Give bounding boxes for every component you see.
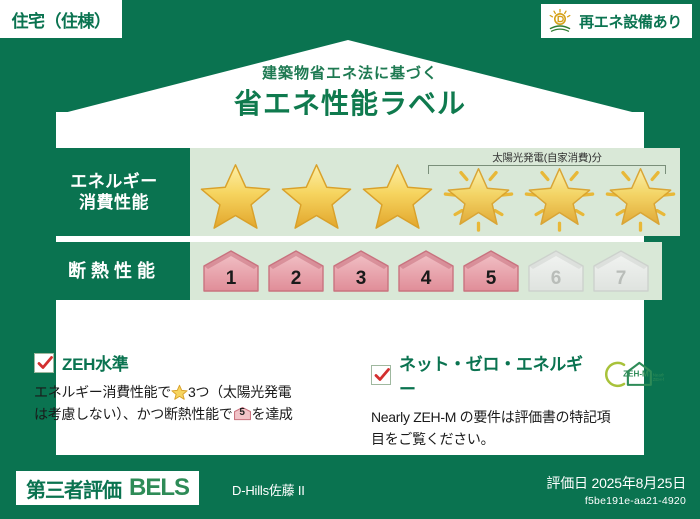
- zeh-criterion-header: ZEH水準: [34, 350, 349, 375]
- nze-criterion: ネット・ゼロ・エネルギー ZEH-M Nearly ZEH-M Nearly Z…: [349, 350, 664, 450]
- star-filled: [358, 159, 437, 233]
- nze-body-text-1: Nearly ZEH-M の要件は評価書の特記項: [371, 409, 610, 425]
- zeh-body-text-4: を達成: [252, 406, 293, 422]
- energy-performance-row: エネルギー 消費性能 太陽光発電(自家消費)分: [38, 148, 662, 236]
- dwelling-type-label: 住宅（住棟）: [12, 7, 111, 32]
- document-id: f5be191e-aa21-4920: [546, 495, 686, 507]
- zeh-body-text-2: 3つ（太陽光発電: [188, 384, 291, 400]
- zeh-m-logo: ZEH-M Nearly ZEH-M: [603, 360, 664, 390]
- energy-label-line1: エネルギー: [70, 171, 158, 192]
- label-subtitle: 建築物省エネ法に基づく: [0, 62, 700, 83]
- zeh-criterion-title: ZEH水準: [62, 350, 129, 375]
- renewable-equipment-badge: 再エネ設備あり: [541, 4, 692, 38]
- evaluation-info: 評価日 2025年8月25日 f5be191e-aa21-4920: [546, 473, 686, 507]
- nze-body-text-2: 目をご覧ください。: [371, 431, 494, 447]
- renewable-badge-label: 再エネ設備あり: [579, 11, 682, 32]
- zeh-body-text-1: エネルギー消費性能で: [34, 384, 171, 400]
- energy-performance-body: 太陽光発電(自家消費)分: [190, 148, 680, 236]
- zeh-body-text-3: は考慮しない）、かつ断熱性能で: [34, 406, 233, 422]
- insulation-level-number: 4: [395, 268, 457, 290]
- zeh-m-logo-sub2: ZEH-M: [653, 377, 664, 382]
- zeh-criterion-body: エネルギー消費性能で3つ（太陽光発電 は考慮しない）、かつ断熱性能で5を達成: [34, 382, 349, 425]
- insulation-level-number: 1: [200, 268, 262, 290]
- solar-annotation-label: 太陽光発電(自家消費)分: [422, 150, 672, 165]
- star-filled: [196, 159, 275, 233]
- sun-icon: [547, 8, 573, 34]
- bels-label: BELS: [129, 474, 189, 502]
- zeh-m-logo-text: ZEH-M: [623, 369, 649, 378]
- insulation-level-on: 4: [395, 248, 457, 294]
- check-icon: [371, 365, 391, 385]
- check-icon: [34, 353, 54, 373]
- label-title: 省エネ性能ラベル: [0, 82, 700, 122]
- building-name: D-Hills佐藤 II: [232, 480, 305, 499]
- star-filled: [277, 159, 356, 233]
- insulation-level-number: 3: [330, 268, 392, 290]
- insulation-level-off: 7: [590, 248, 652, 294]
- bels-footer-badge: 第三者評価 BELS: [16, 471, 199, 505]
- insulation-level-number: 2: [265, 268, 327, 290]
- third-party-label: 第三者評価: [26, 474, 121, 503]
- insulation-performance-body: 1 2 3 4: [190, 242, 662, 300]
- insulation-performance-row: 断熱性能 1 2: [38, 242, 662, 300]
- energy-label-line2: 消費性能: [79, 192, 149, 213]
- nze-criterion-header: ネット・ゼロ・エネルギー ZEH-M Nearly ZEH-M: [371, 350, 664, 400]
- insulation-badge-number: 5: [233, 405, 252, 421]
- insulation-level-number: 5: [460, 268, 522, 290]
- insulation-label-text: 断熱性能: [68, 260, 160, 283]
- performance-rows: エネルギー 消費性能 太陽光発電(自家消費)分: [38, 148, 662, 306]
- insulation-level-off: 6: [525, 248, 587, 294]
- energy-label-root: 住宅（住棟） 再エネ設備あり 建築物省エネ法に基づく 省エネ性能ラベル バナスマ: [0, 0, 700, 519]
- insulation-performance-label: 断熱性能: [38, 242, 190, 300]
- insulation-level-number: 6: [525, 268, 587, 290]
- evaluation-date: 評価日 2025年8月25日: [546, 473, 686, 493]
- nze-criterion-title: ネット・ゼロ・エネルギー: [399, 350, 591, 400]
- nze-criterion-body: Nearly ZEH-M の要件は評価書の特記項 目をご覧ください。: [371, 407, 664, 450]
- criteria-section: ZEH水準 エネルギー消費性能で3つ（太陽光発電 は考慮しない）、かつ断熱性能で…: [34, 350, 664, 450]
- insulation-level-on: 5: [460, 248, 522, 294]
- solar-bracket: [428, 165, 666, 174]
- insulation-level-on: 3: [330, 248, 392, 294]
- star-icon: [171, 384, 188, 400]
- insulation-scale: 1 2 3 4: [190, 248, 652, 294]
- insulation-badge-icon: 5: [233, 406, 252, 421]
- dwelling-type-tag: 住宅（住棟）: [0, 0, 122, 38]
- energy-performance-label: エネルギー 消費性能: [38, 148, 190, 236]
- insulation-level-on: 1: [200, 248, 262, 294]
- insulation-level-number: 7: [590, 268, 652, 290]
- insulation-level-on: 2: [265, 248, 327, 294]
- zeh-criterion: ZEH水準 エネルギー消費性能で3つ（太陽光発電 は考慮しない）、かつ断熱性能で…: [34, 350, 349, 450]
